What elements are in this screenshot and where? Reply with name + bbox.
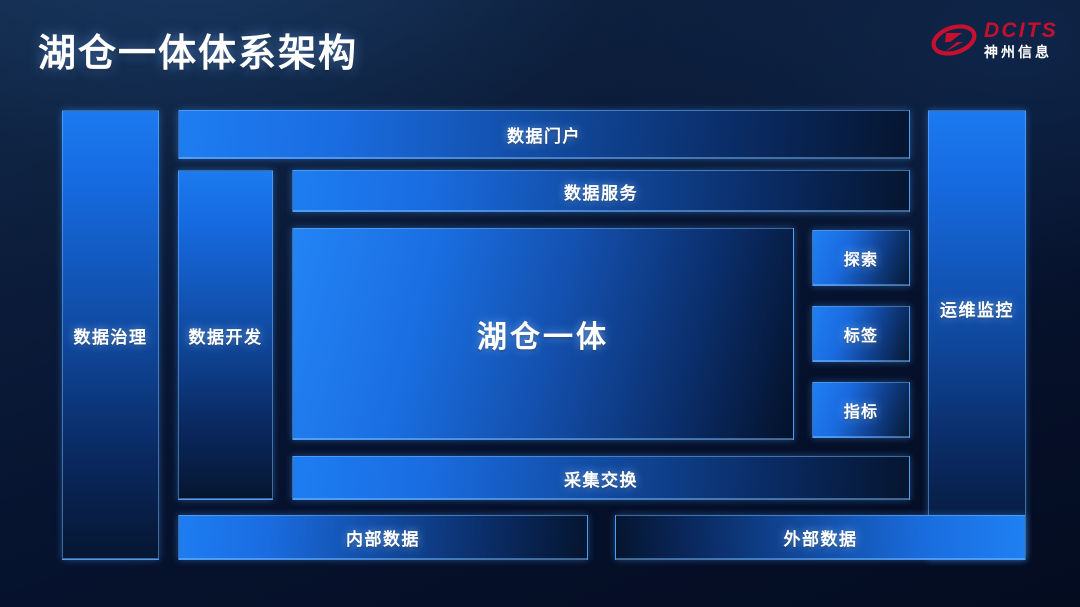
logo-text-en: DCITS [984, 20, 1058, 41]
panel-data-development-label: 数据开发 [189, 323, 263, 348]
panel-collection-exchange[interactable]: 采集交换 [292, 456, 910, 500]
panel-internal-data[interactable]: 内部数据 [178, 515, 588, 560]
panel-ops-monitoring[interactable]: 运维监控 [928, 110, 1026, 560]
panel-module-explore[interactable]: 探索 [812, 230, 910, 286]
panel-data-portal[interactable]: 数据门户 [178, 110, 910, 159]
panel-data-service[interactable]: 数据服务 [292, 170, 910, 212]
panel-data-development[interactable]: 数据开发 [178, 170, 273, 500]
panel-data-governance[interactable]: 数据治理 [62, 110, 159, 560]
panel-data-portal-label: 数据门户 [507, 122, 581, 147]
panel-external-data-label: 外部数据 [784, 525, 858, 550]
panel-lakehouse-core[interactable]: 湖仓一体 [292, 228, 794, 440]
panel-external-data[interactable]: 外部数据 [615, 515, 1026, 560]
panel-module-explore-label: 探索 [844, 246, 878, 270]
logo-text-cn: 神州信息 [984, 45, 1058, 59]
panel-collection-exchange-label: 采集交换 [564, 466, 638, 491]
dcits-swoosh-icon [931, 21, 977, 59]
panel-module-metric-label: 指标 [844, 398, 878, 422]
panel-module-tag[interactable]: 标签 [812, 306, 910, 362]
panel-ops-monitoring-label: 运维监控 [940, 296, 1014, 321]
panel-lakehouse-core-label: 湖仓一体 [477, 312, 609, 356]
brand-logo: DCITS 神州信息 [931, 20, 1058, 59]
panel-data-governance-label: 数据治理 [74, 323, 148, 348]
panel-module-metric[interactable]: 指标 [812, 382, 910, 438]
page-title: 湖仓一体体系架构 [38, 22, 358, 77]
panel-internal-data-label: 内部数据 [346, 525, 420, 550]
panel-data-service-label: 数据服务 [564, 179, 638, 204]
panel-module-tag-label: 标签 [844, 322, 878, 346]
